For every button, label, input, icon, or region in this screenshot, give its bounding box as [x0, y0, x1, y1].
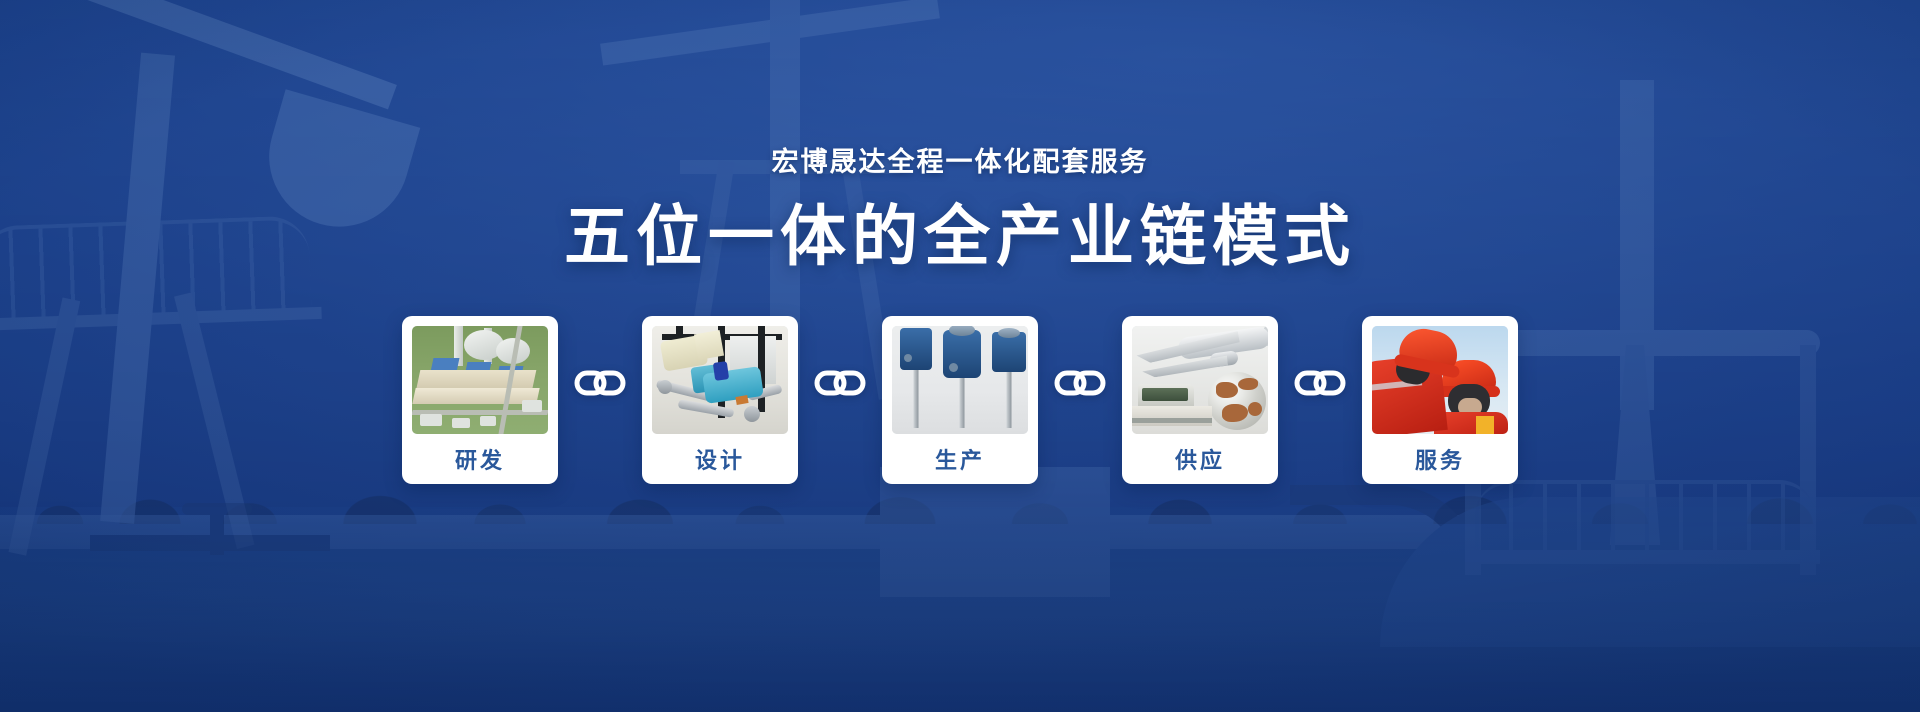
banner-title: 五位一体的全产业链模式 — [564, 201, 1356, 272]
promo-banner: 宏博晟达全程一体化配套服务 五位一体的全产业链模式 研发 — [0, 0, 1920, 712]
chain-card-label-research: 研发 — [455, 434, 505, 484]
chain-card-research[interactable]: 研发 — [402, 316, 558, 484]
value-chain-row: 研发 — [402, 316, 1518, 484]
banner-subtitle: 宏博晟达全程一体化配套服务 — [772, 140, 1149, 179]
chain-link-icon-2 — [798, 368, 882, 398]
chain-card-image-production — [892, 326, 1028, 434]
chain-card-image-service — [1372, 326, 1508, 434]
chain-card-service[interactable]: 服务 — [1362, 316, 1518, 484]
chain-link-icon-1 — [558, 368, 642, 398]
chain-card-production[interactable]: 生产 — [882, 316, 1038, 484]
chain-card-design[interactable]: 设计 — [642, 316, 798, 484]
chain-card-supply[interactable]: 供应 — [1122, 316, 1278, 484]
chain-card-label-production: 生产 — [935, 434, 985, 484]
chain-card-label-service: 服务 — [1415, 434, 1465, 484]
chain-card-label-design: 设计 — [695, 434, 745, 484]
chain-link-icon-4 — [1278, 368, 1362, 398]
chain-card-image-research — [412, 326, 548, 434]
chain-card-label-supply: 供应 — [1175, 434, 1225, 484]
chain-card-image-supply — [1132, 326, 1268, 434]
banner-content: 宏博晟达全程一体化配套服务 五位一体的全产业链模式 研发 — [0, 0, 1920, 712]
chain-link-icon-3 — [1038, 368, 1122, 398]
chain-card-image-design — [652, 326, 788, 434]
